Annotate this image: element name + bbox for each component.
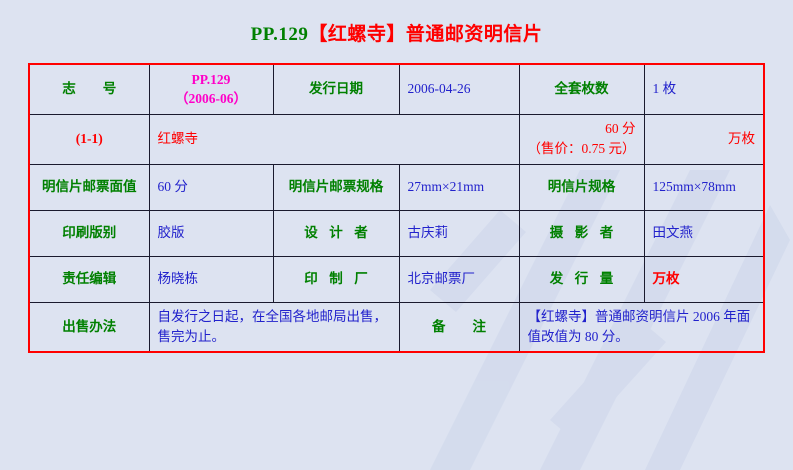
title-name: 【红螺寺】普通邮资明信片 [308,24,542,45]
table-row: 出售办法 自发行之日起，在全国各地邮局出售，售完为止。 备 注 【红螺寺】普通邮… [29,302,764,352]
face-value: 60 分 [528,119,636,139]
retail-price: （售价：0.75 元） [528,139,636,159]
value-sale-method: 自发行之日起，在全国各地邮局出售，售完为止。 [149,302,399,352]
label-print-run: 发 行 量 [519,256,644,302]
value-remark: 【红螺寺】普通邮资明信片 2006 年面值改值为 80 分。 [519,302,764,352]
value-item-quantity: 万枚 [644,114,764,164]
postcard-info-page: PP.129【红螺寺】普通邮资明信片 志 号 PP.129 （2006-06） … [0,0,793,353]
label-stamp-face-value: 明信片邮票面值 [29,164,149,210]
table-row: (1-1) 红螺寺 60 分 （售价：0.75 元） 万枚 [29,114,764,164]
label-issue-date: 发行日期 [273,64,399,114]
page-title: PP.129【红螺寺】普通邮资明信片 [0,0,793,63]
stamp-info-table: 志 号 PP.129 （2006-06） 发行日期 2006-04-26 全套枚… [28,63,765,353]
value-photographer: 田文燕 [644,210,764,256]
value-face-value-and-price: 60 分 （售价：0.75 元） [519,114,644,164]
value-card-size: 125mm×78mm [644,164,764,210]
table-row: 责任编辑 杨晓栋 印 制 厂 北京邮票厂 发 行 量 万枚 [29,256,764,302]
value-printer: 北京邮票厂 [399,256,519,302]
value-stamp-size: 27mm×21mm [399,164,519,210]
label-card-size: 明信片规格 [519,164,644,210]
table-row: 印刷版别 胶版 设 计 者 古庆莉 摄 影 者 田文燕 [29,210,764,256]
table-row: 明信片邮票面值 60 分 明信片邮票规格 27mm×21mm 明信片规格 125… [29,164,764,210]
value-set-count: 1 枚 [644,64,764,114]
label-photographer: 摄 影 者 [519,210,644,256]
label-serial-number: 志 号 [29,64,149,114]
serial-year: （2006-06） [158,89,265,109]
value-designer: 古庆莉 [399,210,519,256]
serial-code: PP.129 [158,70,265,90]
value-print-type: 胶版 [149,210,273,256]
table-row: 志 号 PP.129 （2006-06） 发行日期 2006-04-26 全套枚… [29,64,764,114]
value-stamp-face-value: 60 分 [149,164,273,210]
title-code: PP.129 [251,24,309,45]
value-editor: 杨晓栋 [149,256,273,302]
label-stamp-size: 明信片邮票规格 [273,164,399,210]
label-designer: 设 计 者 [273,210,399,256]
value-print-run: 万枚 [644,256,764,302]
label-sale-method: 出售办法 [29,302,149,352]
value-serial-number: PP.129 （2006-06） [149,64,273,114]
label-set-count: 全套枚数 [519,64,644,114]
label-printer: 印 制 厂 [273,256,399,302]
value-item-subject: 红螺寺 [149,114,519,164]
value-item-index: (1-1) [29,114,149,164]
label-remark: 备 注 [399,302,519,352]
label-print-type: 印刷版别 [29,210,149,256]
value-issue-date: 2006-04-26 [399,64,519,114]
label-editor: 责任编辑 [29,256,149,302]
